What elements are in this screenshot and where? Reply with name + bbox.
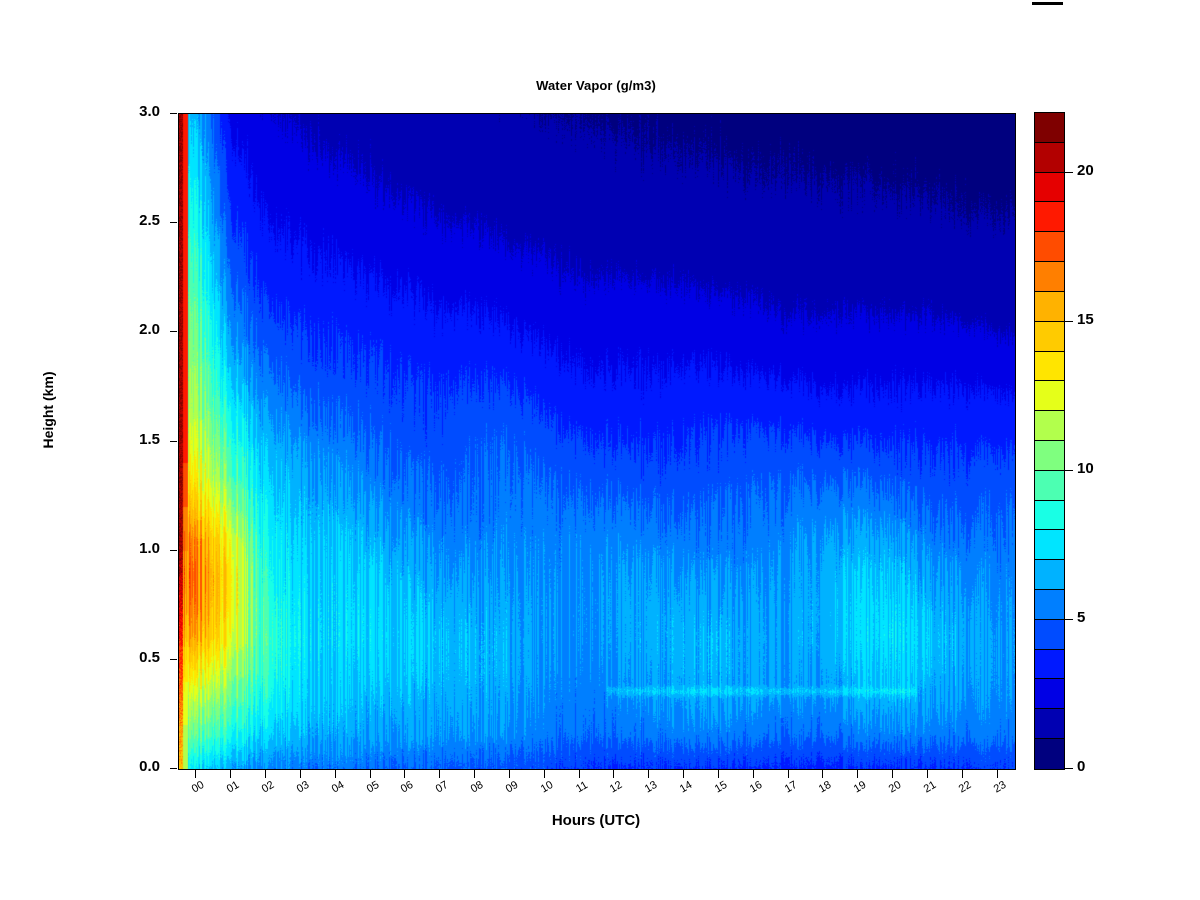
x-tick-mark <box>892 770 893 778</box>
x-tick-label: 21 <box>916 776 945 799</box>
y-tick-label: 0.5 <box>108 649 160 666</box>
x-tick-mark <box>370 770 371 778</box>
colorbar-band <box>1035 381 1064 411</box>
colorbar-band <box>1035 590 1064 620</box>
x-tick-label: 15 <box>707 776 736 799</box>
colorbar-tick-mark <box>1065 768 1073 769</box>
x-tick-label: 17 <box>777 776 806 799</box>
x-tick-mark <box>788 770 789 778</box>
y-tick-mark <box>170 113 177 114</box>
colorbar-band <box>1035 530 1064 560</box>
colorbar-tick-mark <box>1065 172 1073 173</box>
x-tick-mark <box>962 770 963 778</box>
y-tick-label: 1.5 <box>108 431 160 448</box>
colorbar-tick-label: 10 <box>1077 460 1094 477</box>
x-tick-label: 10 <box>533 776 562 799</box>
colorbar-band <box>1035 501 1064 531</box>
y-tick-mark <box>170 768 177 769</box>
figure-canvas: Water Vapor (g/m3) Height (km) Hours (UT… <box>0 0 1200 900</box>
x-tick-label: 04 <box>324 776 353 799</box>
y-tick-label: 3.0 <box>108 103 160 120</box>
y-tick-mark <box>170 331 177 332</box>
colorbar-tick-label: 20 <box>1077 162 1094 179</box>
colorbar-band <box>1035 650 1064 680</box>
y-tick-label: 0.0 <box>108 758 160 775</box>
colorbar <box>1034 112 1065 770</box>
x-tick-mark <box>753 770 754 778</box>
x-tick-mark <box>857 770 858 778</box>
colorbar-band <box>1035 173 1064 203</box>
colorbar-band <box>1035 471 1064 501</box>
y-tick-mark <box>170 222 177 223</box>
x-tick-mark <box>404 770 405 778</box>
y-tick-label: 1.0 <box>108 540 160 557</box>
colorbar-band <box>1035 292 1064 322</box>
colorbar-band <box>1035 441 1064 471</box>
y-tick-mark <box>170 441 177 442</box>
x-tick-mark <box>613 770 614 778</box>
heatmap-plot-area <box>178 113 1016 770</box>
y-tick-label: 2.0 <box>108 321 160 338</box>
x-tick-mark <box>822 770 823 778</box>
colorbar-band <box>1035 113 1064 143</box>
colorbar-band <box>1035 352 1064 382</box>
y-tick-mark <box>170 659 177 660</box>
y-axis-label: Height (km) <box>40 335 56 485</box>
colorbar-band <box>1035 143 1064 173</box>
x-tick-label: 14 <box>672 776 701 799</box>
page-title: Water Vapor (g/m3) <box>178 78 1014 93</box>
x-axis-label: Hours (UTC) <box>178 812 1014 829</box>
x-tick-label: 07 <box>428 776 457 799</box>
x-tick-mark <box>439 770 440 778</box>
x-tick-label: 12 <box>602 776 631 799</box>
y-tick-label: 2.5 <box>108 212 160 229</box>
colorbar-band <box>1035 709 1064 739</box>
x-tick-mark <box>300 770 301 778</box>
x-tick-mark <box>683 770 684 778</box>
colorbar-band <box>1035 262 1064 292</box>
heatmap-field <box>179 114 1015 769</box>
x-tick-label: 02 <box>254 776 283 799</box>
x-tick-mark <box>718 770 719 778</box>
x-tick-label: 20 <box>881 776 910 799</box>
x-tick-mark <box>648 770 649 778</box>
x-tick-label: 22 <box>951 776 980 799</box>
colorbar-band <box>1035 739 1064 769</box>
x-tick-label: 09 <box>498 776 527 799</box>
colorbar-band <box>1035 411 1064 441</box>
x-tick-label: 18 <box>811 776 840 799</box>
x-tick-label: 19 <box>846 776 875 799</box>
x-tick-label: 23 <box>986 776 1015 799</box>
x-tick-mark <box>997 770 998 778</box>
x-tick-mark <box>195 770 196 778</box>
x-tick-mark <box>579 770 580 778</box>
colorbar-band <box>1035 232 1064 262</box>
clipped-top-marker <box>1032 2 1063 5</box>
x-tick-label: 16 <box>742 776 771 799</box>
x-tick-mark <box>474 770 475 778</box>
colorbar-tick-mark <box>1065 321 1073 322</box>
colorbar-band <box>1035 202 1064 232</box>
x-tick-mark <box>230 770 231 778</box>
colorbar-band <box>1035 560 1064 590</box>
colorbar-tick-mark <box>1065 619 1073 620</box>
colorbar-band <box>1035 322 1064 352</box>
x-tick-mark <box>509 770 510 778</box>
x-tick-label: 06 <box>393 776 422 799</box>
colorbar-band <box>1035 679 1064 709</box>
x-tick-label: 08 <box>463 776 492 799</box>
x-tick-label: 11 <box>568 776 597 799</box>
x-tick-mark <box>335 770 336 778</box>
x-tick-label: 01 <box>219 776 248 799</box>
colorbar-tick-label: 5 <box>1077 609 1085 626</box>
x-tick-mark <box>265 770 266 778</box>
colorbar-band <box>1035 620 1064 650</box>
x-tick-label: 13 <box>637 776 666 799</box>
x-tick-mark <box>927 770 928 778</box>
y-tick-mark <box>170 550 177 551</box>
colorbar-tick-label: 0 <box>1077 758 1085 775</box>
colorbar-tick-label: 15 <box>1077 311 1094 328</box>
colorbar-tick-mark <box>1065 470 1073 471</box>
x-tick-mark <box>544 770 545 778</box>
x-tick-label: 03 <box>289 776 318 799</box>
x-tick-label: 05 <box>359 776 388 799</box>
x-tick-label: 00 <box>184 776 213 799</box>
